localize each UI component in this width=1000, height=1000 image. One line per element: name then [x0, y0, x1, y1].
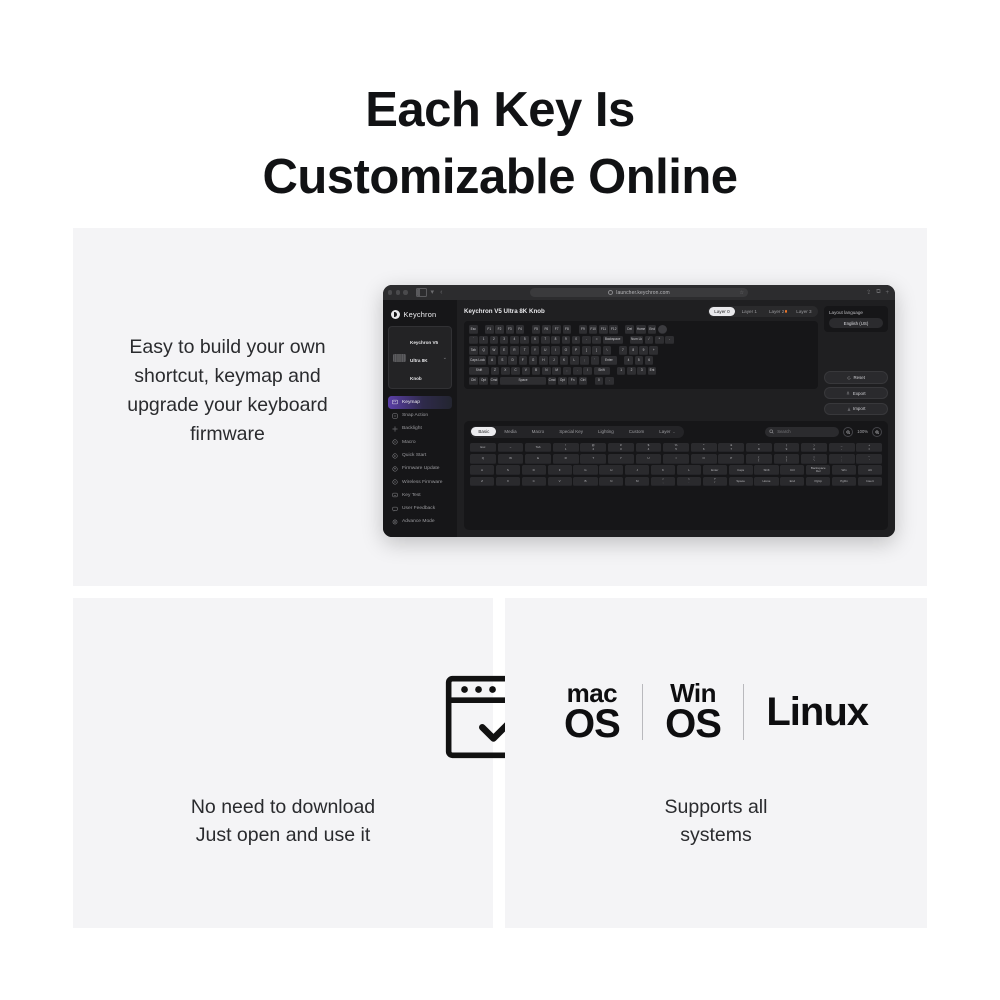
keyboard-key[interactable]: Y [531, 346, 540, 355]
keyboard-key[interactable]: V [522, 367, 531, 376]
layout-language-box: Layout language English (US) [824, 306, 888, 332]
sidebar-item-macro[interactable]: Macro [388, 436, 452, 449]
page-title: Each Key Is Customizable Online [0, 77, 1000, 212]
keyboard-key[interactable]: H [539, 356, 548, 365]
keyboard-key[interactable]: F5 [532, 325, 541, 334]
keyboard-gap [615, 377, 619, 386]
sidebar-nav: Keymap Snap Action Backlight Macro [388, 396, 452, 537]
keyboard-key[interactable]: ] [592, 346, 601, 355]
backlight-icon [392, 426, 398, 432]
browser-chrome: ▾ ‹ launcher.keychron.com ☆ ⇪ ⧉ + [383, 285, 895, 300]
keyboard-key[interactable]: / [583, 367, 592, 376]
layout-language-label: Layout language [829, 310, 883, 315]
keyboard-row: CtrlOptCmdSpaceCmdOptFnCtrl0. [469, 377, 813, 386]
key-picker-key[interactable]: N [599, 477, 623, 487]
key-picker-key[interactable]: U [636, 454, 662, 464]
layer-tab-label: Layer 3 [796, 309, 811, 314]
key-category-tab-label: Macro [532, 429, 545, 434]
key-picker-key[interactable]: B [573, 477, 597, 487]
key-picker-key[interactable]: $4 [636, 443, 662, 453]
key-picker-controls: Search 100% [765, 427, 882, 437]
keyboard-key[interactable]: = [592, 336, 601, 345]
chevron-down-icon[interactable]: ▾ [431, 289, 435, 296]
keyboard-key[interactable]: B [532, 367, 541, 376]
keyboard-key[interactable]: Num Lk [630, 336, 643, 345]
keyboard-key[interactable]: ; [580, 356, 589, 365]
key-picker-grid[interactable]: Esc~Tab!1@2#3$4%5^6&7*8(9)0_-+=QWERTYUIO… [470, 443, 882, 486]
key-picker-section: BasicMediaMacroSpecial KeyLightingCustom… [464, 421, 888, 530]
keyboard-gap [479, 325, 483, 334]
key-category-tab-custom[interactable]: Custom [622, 427, 652, 436]
layer-tab-label: Layer 0 [714, 309, 729, 314]
keyboard-gap [611, 367, 615, 376]
keyboard-key[interactable]: P [572, 346, 581, 355]
key-category-tab-macro[interactable]: Macro [525, 427, 552, 436]
key-picker-key[interactable]: M [625, 477, 649, 487]
key-picker-key[interactable]: _- [829, 443, 855, 453]
keyboard-key[interactable]: / [645, 336, 654, 345]
keyboard-key[interactable]: - [582, 336, 591, 345]
keyboard-key[interactable]: 1 [617, 367, 626, 376]
sidebar-item-label: Macro [402, 440, 416, 445]
key-test-icon [392, 492, 398, 498]
keyboard-preview: Keychron V5 Ultra 8K Knob Layer 0 Layer … [464, 306, 818, 417]
bookmark-star-icon[interactable]: ☆ [740, 290, 744, 296]
key-category-tab-special-key[interactable]: Special Key [552, 427, 590, 436]
key-category-tab-basic[interactable]: Basic [471, 427, 496, 436]
page-title-line-1: Each Key Is [365, 83, 635, 137]
key-picker-toolbar: BasicMediaMacroSpecial KeyLightingCustom… [470, 426, 882, 438]
keyboard-key[interactable]: , [563, 367, 572, 376]
keyboard-key[interactable]: End [648, 325, 657, 334]
zoom-out-icon[interactable] [843, 427, 853, 437]
keyboard-key[interactable]: Z [491, 367, 500, 376]
keyboard-key[interactable]: F8 [563, 325, 572, 334]
reset-button-label: Reset [854, 375, 865, 380]
keyboard-key[interactable]: W [490, 346, 499, 355]
keyboard-key[interactable]: Ctrl [579, 377, 588, 386]
keyboard-key[interactable]: F1 [485, 325, 494, 334]
key-picker-key[interactable]: D [522, 465, 546, 475]
key-picker-key[interactable]: W [498, 454, 524, 464]
key-picker-key[interactable]: O [691, 454, 717, 464]
keyboard-gap [619, 356, 623, 365]
keyboard-gap [613, 346, 617, 355]
keyboard-key[interactable]: Tab [469, 346, 478, 355]
export-icon [846, 391, 850, 395]
supported-os-card [505, 598, 927, 928]
keyboard-key[interactable]: ' [591, 356, 600, 365]
sidebar-item-label: Backlight [402, 426, 422, 431]
keyboard-key[interactable]: F10 [589, 325, 598, 334]
keyboard-key[interactable]: Shift [594, 367, 610, 376]
reset-button[interactable]: Reset [824, 371, 888, 383]
key-picker-key[interactable]: Space [729, 477, 753, 487]
keyboard-key[interactable]: - [665, 336, 674, 345]
keyboard-key[interactable]: * [655, 336, 664, 345]
keyboard-key[interactable]: E [500, 346, 509, 355]
key-picker-key[interactable]: *8 [746, 443, 772, 453]
keyboard-key[interactable]: S [498, 356, 507, 365]
key-picker-key[interactable]: F [548, 465, 572, 475]
keyboard-key[interactable]: 8 [551, 336, 560, 345]
keyboard-key[interactable]: 5 [520, 336, 529, 345]
user-feedback-icon [392, 506, 398, 512]
key-picker-key[interactable]: |\ [801, 454, 827, 464]
sidebar-item-firmware-update[interactable]: Firmware Update [388, 462, 452, 475]
keyboard-key[interactable]: I [551, 346, 560, 355]
keyboard-gap [526, 325, 530, 334]
key-picker-key[interactable]: End [780, 477, 804, 487]
keyboard-key[interactable]: N [542, 367, 551, 376]
keyboard-key[interactable]: + [649, 346, 658, 355]
tabs-icon[interactable]: ⧉ [876, 289, 880, 296]
key-category-tab-lighting[interactable]: Lighting [591, 427, 621, 436]
keyboard-gap [589, 377, 593, 386]
keyboard-key[interactable]: F7 [552, 325, 561, 334]
keyboard-key[interactable]: F9 [579, 325, 588, 334]
snap-action-icon [392, 413, 398, 419]
divider [642, 684, 643, 740]
key-picker-key[interactable]: )0 [801, 443, 827, 453]
search-input[interactable]: Search [765, 427, 839, 437]
keyboard-key[interactable]: ` [469, 336, 478, 345]
key-picker-key[interactable]: S [496, 465, 520, 475]
keyboard-key[interactable]: Fn [568, 377, 577, 386]
keyboard-key[interactable]: 7 [541, 336, 550, 345]
keyboard-key[interactable]: Caps Lock [469, 356, 486, 365]
sidebar-item-wireless-firmware[interactable]: Wireless Firmware [388, 476, 452, 489]
key-picker-key[interactable]: &7 [718, 443, 744, 453]
os-macos-suffix: OS [564, 706, 620, 743]
keyboard-key[interactable]: 9 [562, 336, 571, 345]
keyboard-key[interactable]: 2 [490, 336, 499, 345]
key-picker-key[interactable]: BackspaceDel [806, 465, 830, 475]
address-bar[interactable]: launcher.keychron.com ☆ [530, 288, 748, 297]
key-picker-key[interactable]: <, [651, 477, 675, 487]
import-icon [847, 407, 851, 411]
key-picker-key[interactable]: :; [829, 454, 855, 464]
keyboard-key[interactable]: K [560, 356, 569, 365]
chrome-right-controls[interactable]: ⇪ ⧉ + [866, 289, 889, 296]
key-picker-key[interactable]: Ctrl [780, 465, 804, 475]
export-button[interactable]: Export [824, 387, 888, 399]
keyboard-key[interactable]: 8 [629, 346, 638, 355]
keyboard-gap [624, 336, 628, 345]
key-picker-row: ZXCVBNM<,>.?/SpaceHomeEndPgUpPgDnInsert [470, 477, 882, 487]
keyboard-key[interactable]: J [549, 356, 558, 365]
sidebar-item-label: Keymap [402, 400, 420, 405]
keyboard-key[interactable]: U [541, 346, 550, 355]
keyboard-key[interactable]: R [510, 346, 519, 355]
keyboard-key[interactable]: 3 [637, 367, 646, 376]
keyboard-key[interactable]: 3 [500, 336, 509, 345]
keyboard-title: Keychron V5 Ultra 8K Knob [464, 308, 545, 315]
keyboard-key[interactable]: Del [625, 325, 634, 334]
keyboard-key[interactable]: D [508, 356, 517, 365]
key-picker-key[interactable]: R [553, 454, 579, 464]
address-bar-url: launcher.keychron.com [616, 290, 670, 296]
key-picker-key[interactable]: Y [608, 454, 634, 464]
keyboard-key[interactable]: 4 [624, 356, 633, 365]
keyboard-key[interactable]: 0 [595, 377, 604, 386]
key-picker-key[interactable]: H [599, 465, 623, 475]
sidebar-item-label: Firmware Update [402, 466, 440, 471]
zoom-button[interactable] [403, 290, 407, 294]
keyboard-key[interactable]: 1 [479, 336, 488, 345]
key-picker-key[interactable]: P [718, 454, 744, 464]
page-title-line-2: Customizable Online [0, 144, 1000, 212]
page-root: Each Key Is Customizable Online Easy to … [0, 0, 1000, 1000]
sidebar-item-key-test[interactable]: Key Test [388, 489, 452, 502]
no-download-line-1: No need to download [191, 796, 375, 818]
import-button[interactable]: Import [824, 403, 888, 415]
macro-icon [392, 439, 398, 445]
key-picker-row: ASDFGHJKLEnterCapsShiftCtrlBackspaceDelW… [470, 465, 882, 475]
supported-os-line-2: systems [680, 824, 752, 846]
share-icon[interactable]: ⇪ [866, 289, 871, 296]
divider [743, 684, 744, 740]
close-button[interactable] [388, 290, 392, 294]
launcher-app-window: ▾ ‹ launcher.keychron.com ☆ ⇪ ⧉ + Keychr… [383, 285, 895, 537]
hero-description: Easy to build your own shortcut, keymap … [100, 333, 355, 448]
key-picker-key[interactable]: Tab [525, 443, 551, 453]
key-picker-key[interactable]: @2 [580, 443, 606, 453]
keyboard-key[interactable]: F [519, 356, 528, 365]
zoom-level: 100% [857, 429, 868, 434]
keyboard-key[interactable]: . [605, 377, 614, 386]
key-picker-key[interactable]: "' [856, 454, 882, 464]
device-selector[interactable]: Keychron V5 Ultra 8K Knob ⌄ [388, 326, 452, 389]
os-macos: mac OS [564, 682, 620, 743]
key-picker-key[interactable]: (9 [774, 443, 800, 453]
keyboard-header: Keychron V5 Ultra 8K Knob Layer 0 Layer … [464, 306, 818, 317]
supported-os-caption: Supports all systems [505, 793, 927, 850]
sidebar-item-user-feedback[interactable]: User Feedback [388, 502, 452, 515]
key-picker-key[interactable]: }] [774, 454, 800, 464]
key-picker-key[interactable]: >. [677, 477, 701, 487]
keyboard-key[interactable]: F12 [609, 325, 618, 334]
key-picker-key[interactable]: Caps [729, 465, 753, 475]
key-picker-key[interactable]: !1 [553, 443, 579, 453]
keyboard-row: ShiftZXCVBNM,./Shift123Ent [469, 367, 813, 376]
key-category-tab-label: Layer [659, 429, 670, 434]
keyboard-key[interactable]: Home [636, 325, 647, 334]
keyboard-key[interactable]: [ [582, 346, 591, 355]
device-thumbnail-icon [393, 354, 406, 362]
key-picker-key[interactable]: A [470, 465, 494, 475]
sidebar-item-label: Quick Start [402, 453, 426, 458]
key-picker-key[interactable]: I [663, 454, 689, 464]
sidebar-item-backlight[interactable]: Backlight [388, 423, 452, 436]
keyboard-key[interactable]: F6 [542, 325, 551, 334]
key-picker-key[interactable]: K [651, 465, 675, 475]
keyboard-key[interactable]: F11 [599, 325, 608, 334]
keyboard-key[interactable]: T [520, 346, 529, 355]
new-tab-icon[interactable]: + [885, 290, 889, 296]
firmware-update-icon [392, 466, 398, 472]
sidebar-item-label: Snap Action [402, 413, 428, 418]
key-picker-key[interactable]: Esc [470, 443, 496, 453]
keyboard-key[interactable]: 9 [639, 346, 648, 355]
app-main: Keychron V5 Ultra 8K Knob Layer 0 Layer … [457, 300, 895, 537]
keymap-right-panel: Layout language English (US) Reset Expor… [824, 306, 888, 417]
key-picker-row: QWERTYUIOP{[}]|\:;"' [470, 454, 882, 464]
key-picker-key[interactable]: L [677, 465, 701, 475]
keyboard-key[interactable]: F2 [495, 325, 504, 334]
sidebar-item-advance-mode[interactable]: Advance Mode [388, 516, 452, 529]
keyboard-key[interactable]: Cmd [490, 377, 499, 386]
supported-os-line-1: Supports all [665, 796, 768, 818]
chevron-down-icon[interactable]: ⌄ [443, 355, 447, 361]
keyboard-key[interactable]: 0 [572, 336, 581, 345]
key-category-tab-label: Special Key [559, 429, 583, 434]
keymap-section: Keychron V5 Ultra 8K Knob Layer 0 Layer … [457, 300, 895, 417]
key-picker-key[interactable]: #3 [608, 443, 634, 453]
key-category-tabs: BasicMediaMacroSpecial KeyLightingCustom… [470, 426, 684, 438]
sidebar-toggle-icon[interactable] [416, 288, 427, 297]
keyboard-key[interactable]: 6 [645, 356, 654, 365]
key-picker-key[interactable]: C [522, 477, 546, 487]
keyboard-key[interactable]: Cmd [548, 377, 557, 386]
key-picker-key[interactable]: Alt [858, 465, 882, 475]
keyboard-key[interactable]: 4 [510, 336, 519, 345]
keymap-actions: Reset Export Import [824, 371, 888, 417]
key-picker-key[interactable]: ^6 [691, 443, 717, 453]
search-icon [769, 429, 774, 434]
keyboard-key[interactable]: \ [603, 346, 612, 355]
keyboard-key[interactable]: G [529, 356, 538, 365]
key-picker-key[interactable]: X [496, 477, 520, 487]
keyboard-key[interactable]: Shift [469, 367, 489, 376]
chevron-left-icon[interactable]: ‹ [440, 289, 442, 296]
os-logos: mac OS Win OS Linux [505, 672, 927, 752]
rotary-knob[interactable] [658, 325, 667, 334]
keyboard-gap [620, 325, 624, 334]
keyboard-row: Caps LockASDFGHJKL;'Enter456 [469, 356, 813, 365]
keyboard-row: `1234567890-=BackspaceNum Lk/*- [469, 336, 813, 345]
layer-tab-2[interactable]: Layer 2 [764, 307, 789, 315]
layout-language-select[interactable]: English (US) [829, 318, 883, 328]
import-button-label: Import [853, 406, 865, 411]
zoom-in-icon[interactable] [872, 427, 882, 437]
layer-tab-label: Layer 2 [769, 309, 784, 314]
advance-mode-icon [392, 519, 398, 525]
keychron-logo-icon [391, 310, 400, 319]
key-picker-key[interactable]: G [573, 465, 597, 475]
keyboard-key[interactable]: O [562, 346, 571, 355]
keyboard-key[interactable]: Opt [558, 377, 567, 386]
lock-icon [608, 290, 613, 295]
layer-tab-3[interactable]: Layer 3 [791, 307, 816, 315]
key-picker-key[interactable]: += [856, 443, 882, 453]
key-category-tab-media[interactable]: Media [497, 427, 523, 436]
keyboard-key[interactable]: L [570, 356, 579, 365]
key-picker-key[interactable]: V [548, 477, 572, 487]
key-picker-key[interactable]: Shift [754, 465, 778, 475]
key-picker-key[interactable]: Z [470, 477, 494, 487]
layer-tab-label: Layer 1 [742, 309, 757, 314]
keyboard-key[interactable]: A [488, 356, 497, 365]
os-windows-suffix: OS [665, 706, 721, 743]
keyboard-layout[interactable]: EscF1F2F3F4F5F6F7F8F9F10F11F12DelHomeEnd… [464, 321, 818, 389]
keyboard-key[interactable]: F3 [506, 325, 515, 334]
key-picker-key[interactable]: Enter [703, 465, 727, 475]
keyboard-key[interactable]: Q [479, 346, 488, 355]
no-download-caption: No need to download Just open and use it [73, 793, 493, 850]
layer-tabs: Layer 0 Layer 1 Layer 2 Layer 3 [708, 306, 818, 317]
key-picker-key[interactable]: %5 [663, 443, 689, 453]
sidebar-item-keymap[interactable]: Keymap [388, 396, 452, 409]
quick-start-icon [392, 453, 398, 459]
sidebar-item-quick-start[interactable]: Quick Start [388, 449, 452, 462]
keymap-icon [392, 399, 398, 405]
device-name: Keychron V5 Ultra 8K Knob [410, 340, 438, 381]
layer-tab-0[interactable]: Layer 0 [709, 307, 734, 315]
sidebar-item-label: Key Test [402, 493, 421, 498]
keyboard-key[interactable]: Ctrl [469, 377, 478, 386]
key-picker-key[interactable]: Home [754, 477, 778, 487]
key-picker-key[interactable]: PgDn [832, 477, 856, 487]
brand: Keychron [388, 306, 452, 326]
keyboard-key[interactable]: Enter [601, 356, 617, 365]
app-sidebar: Keychron Keychron V5 Ultra 8K Knob ⌄ Key… [383, 300, 457, 537]
sidebar-item-label: Wireless Firmware [402, 480, 442, 485]
sidebar-item-snap-action[interactable]: Snap Action [388, 409, 452, 422]
key-picker-key[interactable]: Insert [858, 477, 882, 487]
traffic-lights[interactable] [388, 290, 408, 294]
no-download-card [73, 598, 493, 928]
reset-icon [847, 376, 851, 380]
key-picker-key[interactable]: T [580, 454, 606, 464]
export-button-label: Export [853, 391, 866, 396]
key-picker-key[interactable]: Win [832, 465, 856, 475]
keyboard-key[interactable]: Ent [648, 367, 657, 376]
keyboard-gap [573, 325, 577, 334]
key-picker-key[interactable]: ?/ [703, 477, 727, 487]
no-download-line-2: Just open and use it [196, 824, 371, 846]
app-body: Keychron Keychron V5 Ultra 8K Knob ⌄ Key… [383, 300, 895, 537]
key-picker-key[interactable]: ~ [498, 443, 524, 453]
layer-tab-1[interactable]: Layer 1 [737, 307, 762, 315]
keyboard-key[interactable]: . [573, 367, 582, 376]
minimize-button[interactable] [396, 290, 400, 294]
key-category-tab-label: Media [504, 429, 516, 434]
key-picker-key[interactable]: PgUp [806, 477, 830, 487]
keyboard-key[interactable]: 7 [619, 346, 628, 355]
keyboard-key[interactable]: Esc [469, 325, 478, 334]
key-category-tab-layer[interactable]: Layer⌄ [652, 427, 682, 436]
os-linux: Linux [766, 690, 868, 735]
keyboard-key[interactable]: Space [500, 377, 546, 386]
device-info: Keychron V5 Ultra 8K Knob [410, 331, 439, 385]
keyboard-key[interactable]: Opt [479, 377, 488, 386]
keyboard-key[interactable]: Backspace [603, 336, 623, 345]
key-picker-key[interactable]: {[ [746, 454, 772, 464]
keyboard-key[interactable]: 6 [531, 336, 540, 345]
key-picker-key[interactable]: J [625, 465, 649, 475]
keyboard-key[interactable]: M [552, 367, 561, 376]
key-picker-key[interactable]: Q [470, 454, 496, 464]
key-picker-key[interactable]: E [525, 454, 551, 464]
keyboard-key[interactable]: 5 [635, 356, 644, 365]
chevron-down-icon: ⌄ [673, 430, 676, 434]
keyboard-key[interactable]: X [501, 367, 510, 376]
keyboard-key[interactable]: C [511, 367, 520, 376]
keyboard-key[interactable]: F4 [516, 325, 525, 334]
keyboard-key[interactable]: 2 [627, 367, 636, 376]
unsaved-dot-icon [785, 310, 787, 312]
